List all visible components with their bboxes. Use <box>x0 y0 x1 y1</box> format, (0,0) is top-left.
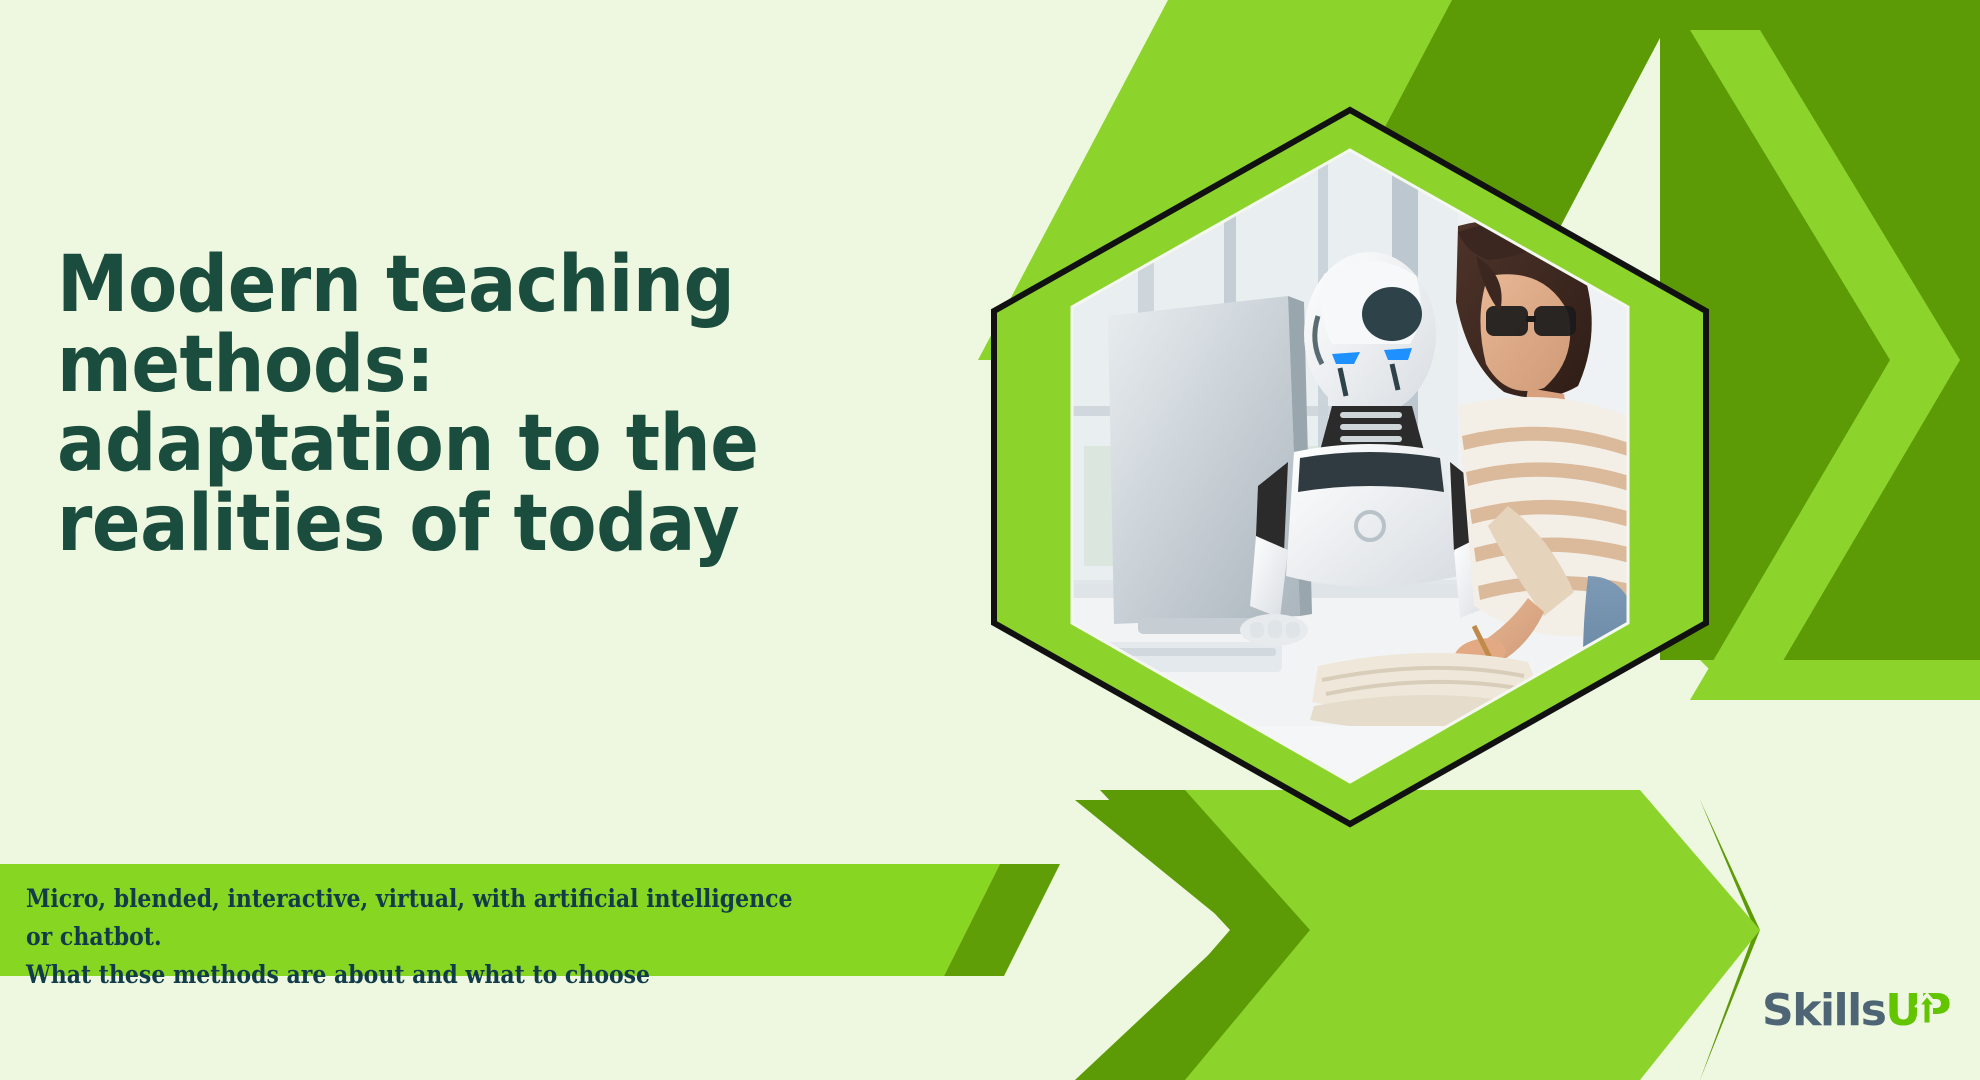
logo-text-skills: Skills <box>1762 989 1885 1033</box>
marketing-banner: Modern teaching methods: adaptation to t… <box>0 0 1980 1080</box>
caption-text: Micro, blended, interactive, virtual, wi… <box>26 880 818 994</box>
page-title: Modern teaching methods: adaptation to t… <box>57 246 867 564</box>
decor-thin-bright-line <box>1700 660 1980 700</box>
logo-up-group: UP <box>1885 988 1949 1034</box>
up-arrow-icon <box>1914 992 1940 1026</box>
caption-banner: Micro, blended, interactive, virtual, wi… <box>0 864 1060 976</box>
skillsup-logo[interactable]: Skills UP <box>1762 988 1949 1034</box>
hero-image-hexagon-frame <box>988 106 1712 828</box>
